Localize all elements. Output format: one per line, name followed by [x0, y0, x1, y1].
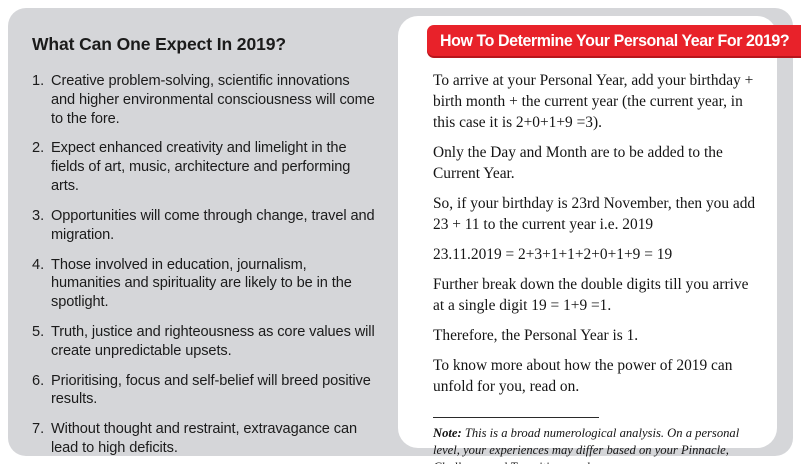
list-item-number: 1.: [32, 72, 51, 91]
paragraph: Therefore, the Personal Year is 1.: [433, 325, 763, 346]
list-item-number: 4.: [32, 256, 51, 275]
list-item-text: Without thought and restraint, extravaga…: [51, 420, 377, 458]
list-item: 4. Those involved in education, journali…: [32, 256, 377, 312]
right-panel-banner: How To Determine Your Personal Year For …: [427, 25, 801, 56]
infographic-root: What Can One Expect In 2019? 1. Creative…: [0, 0, 801, 464]
list-item-number: 5.: [32, 323, 51, 342]
right-column: To arrive at your Personal Year, add you…: [433, 70, 763, 464]
list-item-text: Truth, justice and righteousness as core…: [51, 323, 377, 361]
list-item-number: 6.: [32, 372, 51, 391]
list-item-text: Those involved in education, journalism,…: [51, 256, 377, 312]
paragraph: Only the Day and Month are to be added t…: [433, 142, 763, 184]
paragraph: 23.11.2019 = 2+3+1+1+2+0+1+9 = 19: [433, 244, 763, 265]
paragraph: So, if your birthday is 23rd November, t…: [433, 193, 763, 235]
list-item-number: 3.: [32, 207, 51, 226]
list-item-text: Creative problem-solving, scientific inn…: [51, 72, 377, 128]
list-item: 7. Without thought and restraint, extrav…: [32, 420, 377, 458]
list-item-text: Opportunities will come through change, …: [51, 207, 377, 245]
paragraph: To arrive at your Personal Year, add you…: [433, 70, 763, 133]
list-item: 3. Opportunities will come through chang…: [32, 207, 377, 245]
list-item-text: Expect enhanced creativity and limelight…: [51, 139, 377, 195]
note-text-block: Note: This is a broad numerological anal…: [433, 425, 751, 464]
list-item: 2. Expect enhanced creativity and limeli…: [32, 139, 377, 195]
list-item: 6. Prioritising, focus and self-belief w…: [32, 372, 377, 410]
left-column: What Can One Expect In 2019? 1. Creative…: [32, 34, 377, 464]
list-item: 1. Creative problem-solving, scientific …: [32, 72, 377, 128]
list-item-number: 2.: [32, 139, 51, 158]
list-item-text: Prioritising, focus and self-belief will…: [51, 372, 377, 410]
paragraph: Further break down the double digits til…: [433, 274, 763, 316]
left-panel-title: What Can One Expect In 2019?: [32, 34, 377, 55]
note-divider: [433, 417, 599, 418]
note-label: Note:: [433, 426, 462, 440]
paragraph: To know more about how the power of 2019…: [433, 355, 763, 397]
list-item: 5. Truth, justice and righteousness as c…: [32, 323, 377, 361]
note-body: This is a broad numerological analysis. …: [433, 426, 739, 464]
list-item-number: 7.: [32, 420, 51, 439]
right-panel-banner-title: How To Determine Your Personal Year For …: [440, 31, 789, 51]
expectations-list: 1. Creative problem-solving, scientific …: [32, 72, 377, 458]
